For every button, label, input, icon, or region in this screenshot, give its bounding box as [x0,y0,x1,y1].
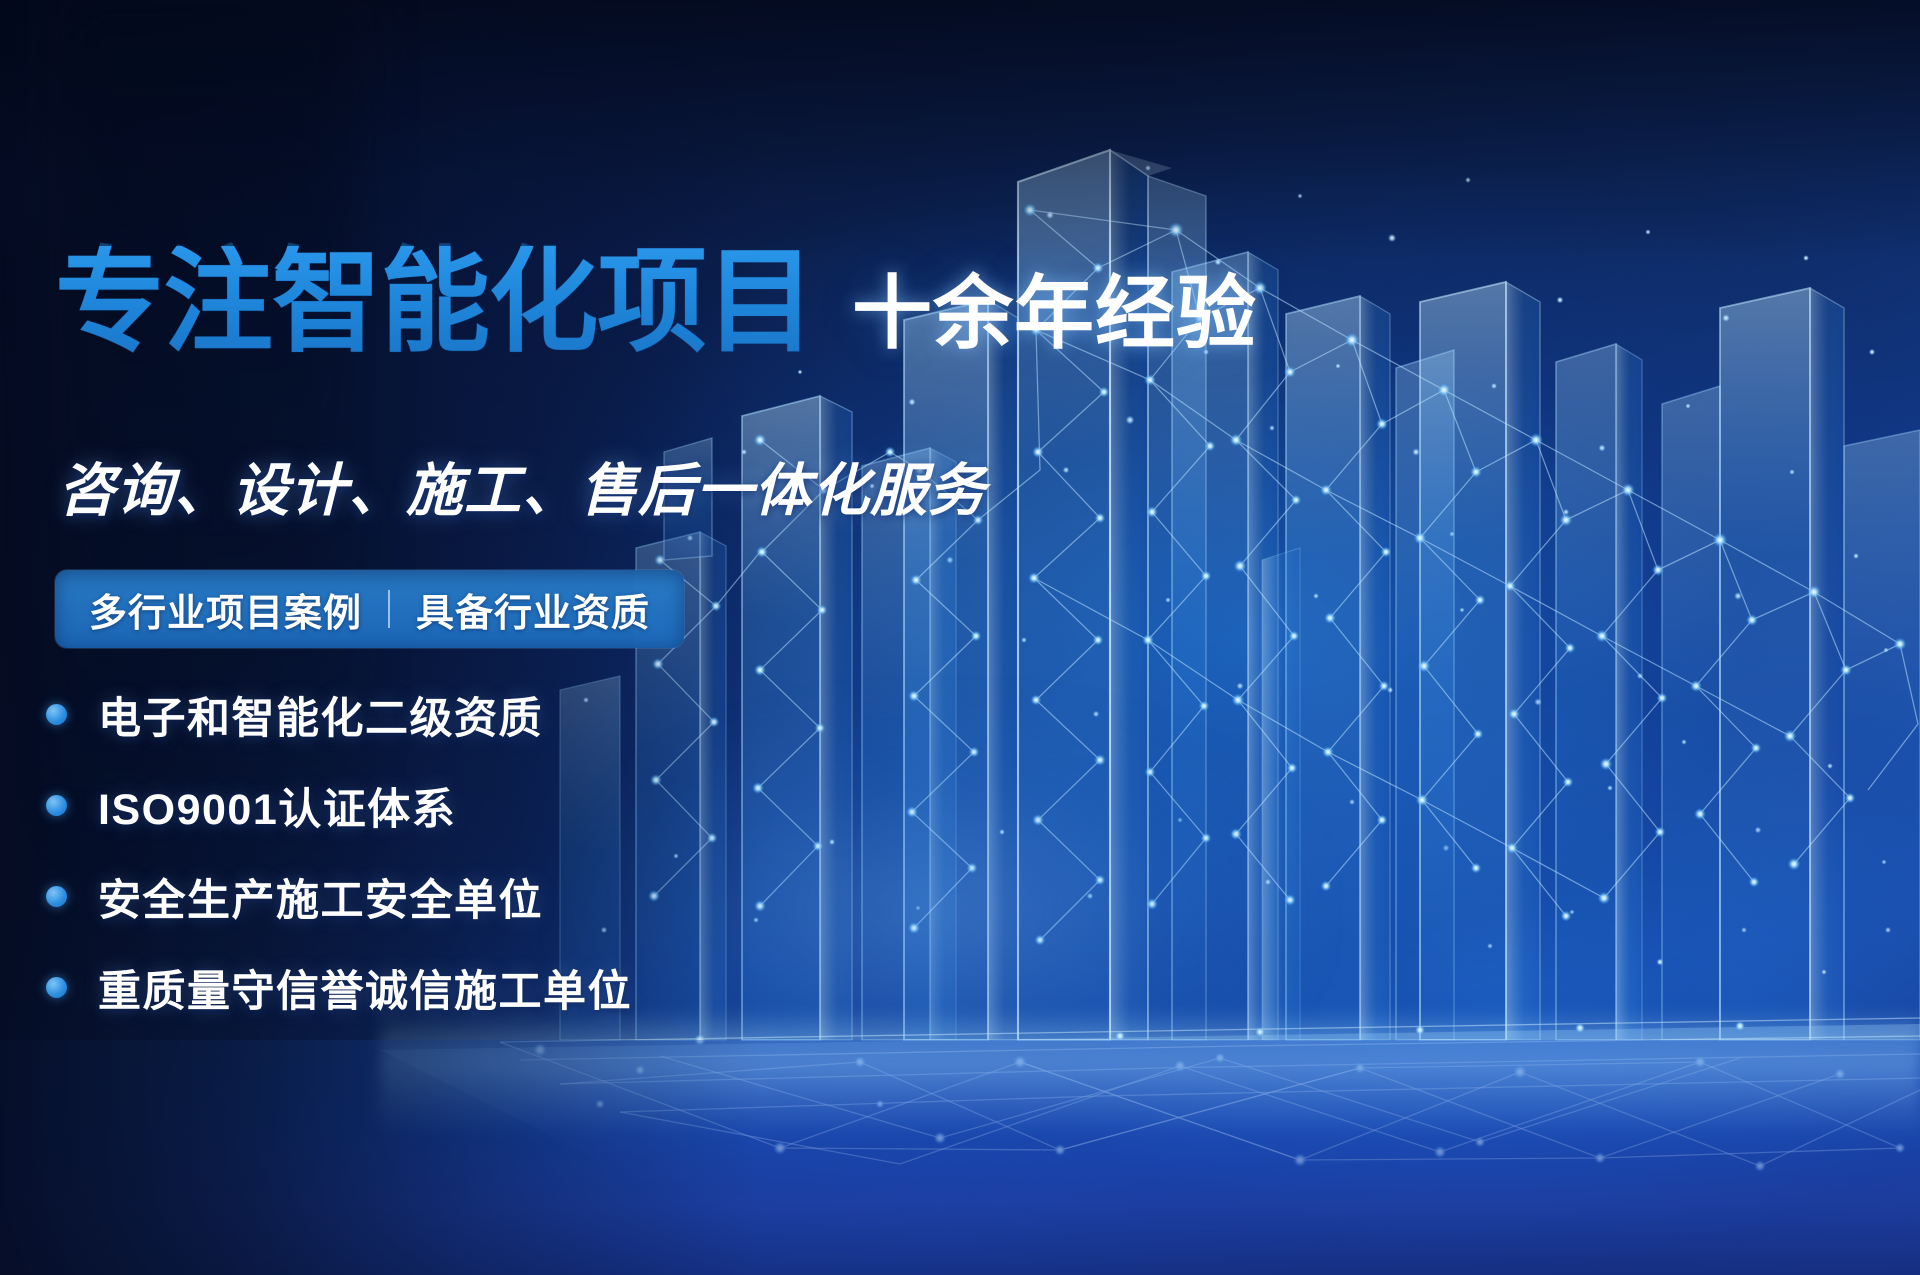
tagline-text: 咨询、设计、施工、售后一体化服务 [58,445,986,527]
list-item-label: 安全生产施工安全单位 [98,866,543,928]
headline-main-title: 专注智能化项目 [55,246,814,360]
list-item-label: 重质量守信誉诚信施工单位 [98,957,632,1019]
banner-content: 专注智能化项目 十余年经验 咨询、设计、施工、售后一体化服务 多行业项目案例 具… [0,0,1920,1275]
list-item: 电子和智能化二级资质 [46,680,746,749]
headline: 专注智能化项目 十余年经验 [55,246,1257,360]
dot-icon [46,795,67,816]
pill-right-label: 具备行业资质 [416,582,650,637]
list-item-label: ISO9001认证体系 [98,775,456,837]
promo-banner: 专注智能化项目 十余年经验 咨询、设计、施工、售后一体化服务 多行业项目案例 具… [0,0,1920,1275]
qualification-list: 电子和智能化二级资质 ISO9001认证体系 安全生产施工安全单位 重质量守信誉… [46,680,746,1044]
dot-icon [46,886,67,907]
pill-left-label: 多行业项目案例 [89,582,362,637]
headline-highlight: 十余年经验 [852,274,1257,354]
pill-divider [388,590,390,628]
list-item: ISO9001认证体系 [46,771,746,840]
credentials-pill: 多行业项目案例 具备行业资质 [55,570,684,648]
dot-icon [46,704,67,725]
list-item: 安全生产施工安全单位 [46,862,746,931]
list-item: 重质量守信誉诚信施工单位 [46,953,746,1022]
dot-icon [46,977,67,998]
list-item-label: 电子和智能化二级资质 [98,684,543,746]
